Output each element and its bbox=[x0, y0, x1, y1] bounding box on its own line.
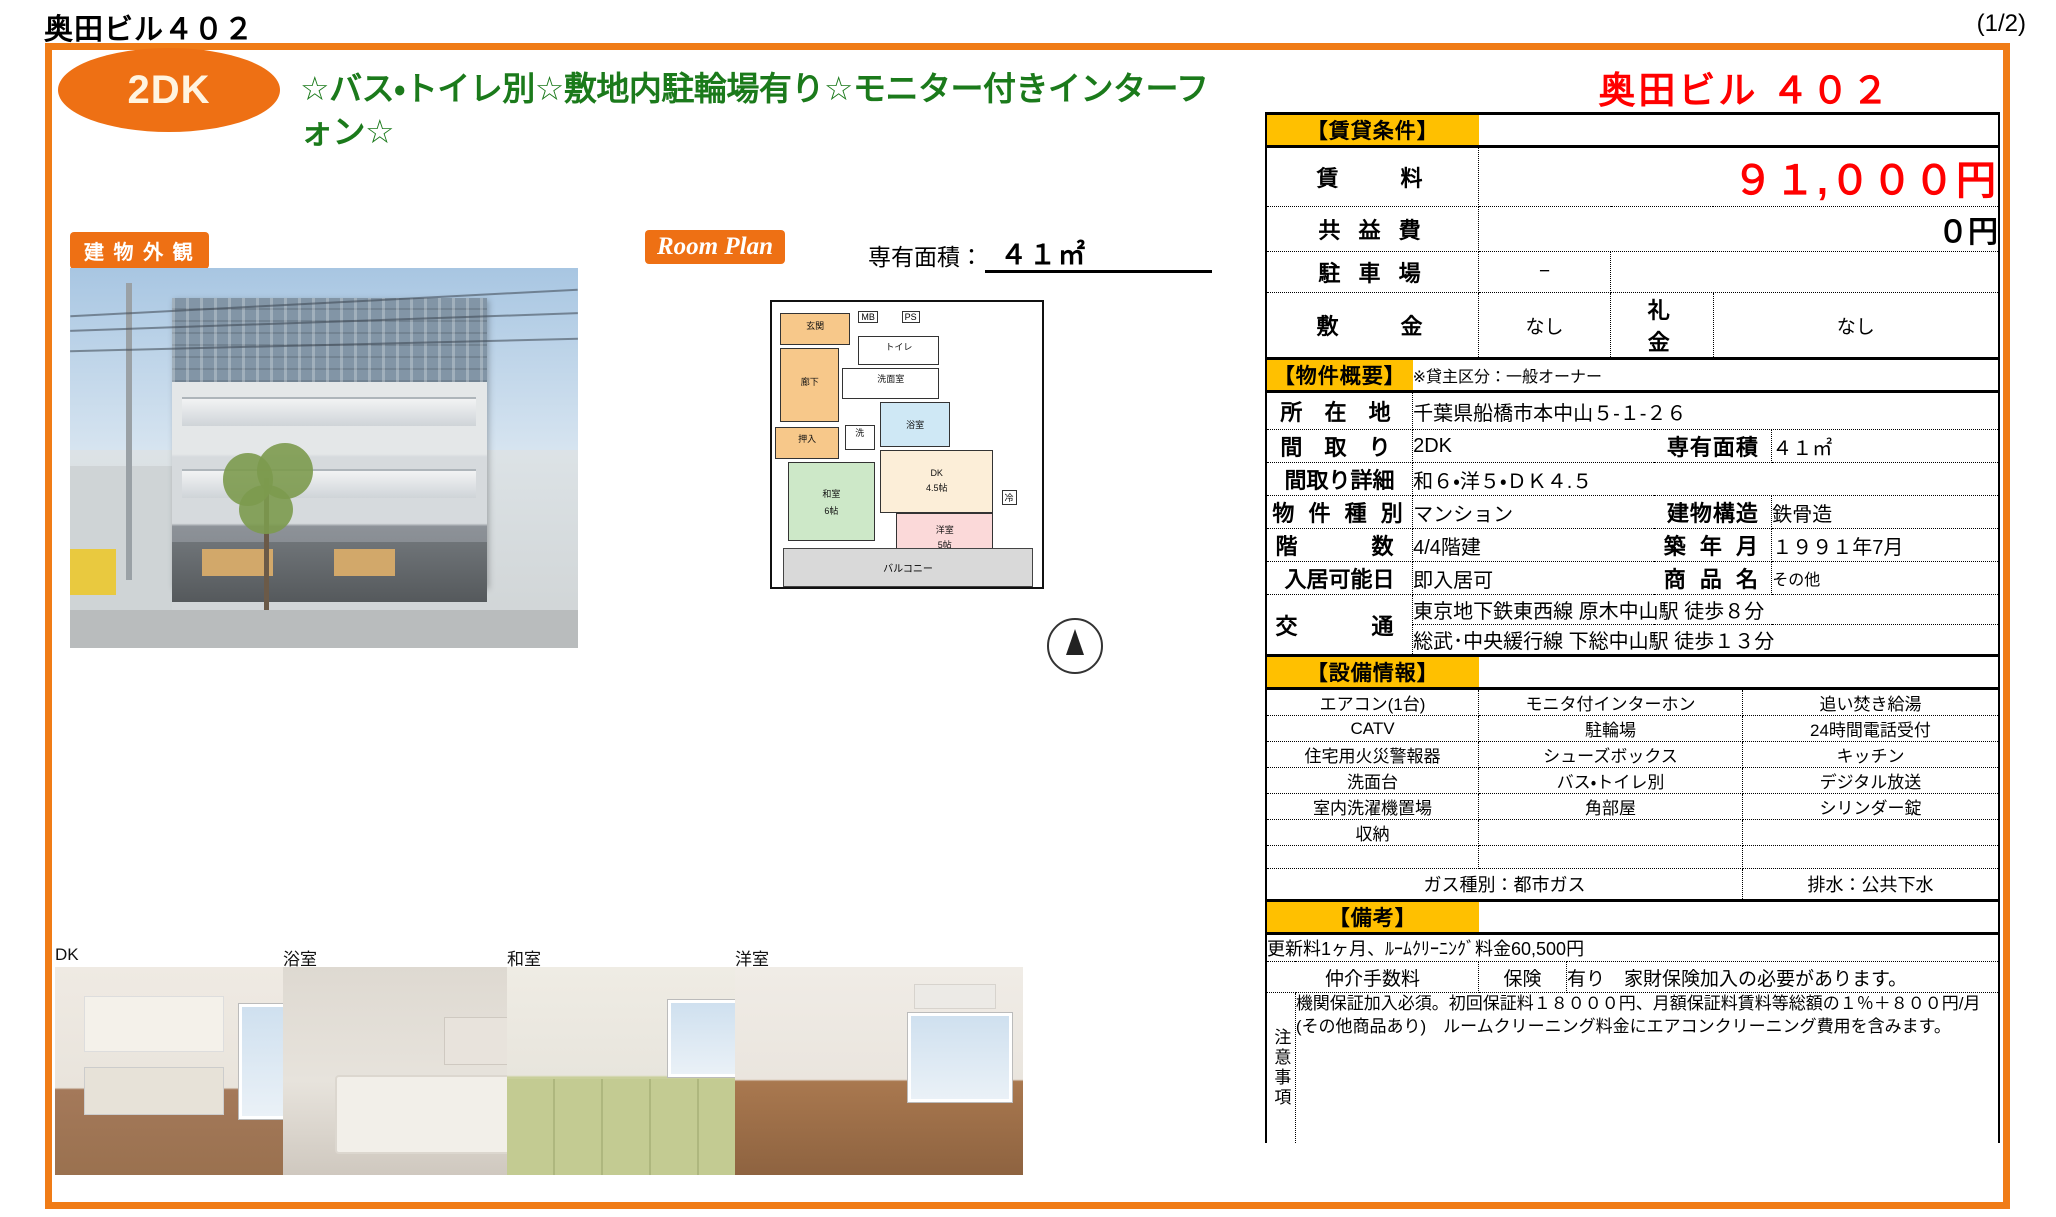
built-year-value: １９９１年7月 bbox=[1772, 529, 1999, 562]
deposit-value: なし bbox=[1479, 293, 1611, 359]
equipment-table: 【設備情報】 エアコン(1台)モニタ付インターホン追い焚き給湯 CATV駐輪場2… bbox=[1265, 657, 2000, 902]
notice-text: 機関保証加入必須。初回保証料１８０００円、月額保証料賃料等総額の１％＋８００円/… bbox=[1295, 993, 1999, 1144]
equipment-row: 住宅用火災警報器シューズボックスキッチン bbox=[1266, 742, 1999, 768]
remarks-header: 【備考】 bbox=[1266, 902, 1479, 934]
rental-conditions-table: 【賃貸条件】 賃 料 ９１,０００円 共 益 費 ０円 駐 車 場 − 敷 金 … bbox=[1265, 112, 2000, 360]
fridge-space: 冷 bbox=[1002, 490, 1017, 505]
room-toilet: トイレ bbox=[858, 336, 939, 365]
catch-copy: ☆バス・トイレ別☆敷地内駐輪場有り☆モニター付きインターフォン☆ bbox=[300, 68, 1220, 154]
equipment-item: 24時間電話受付 bbox=[1742, 716, 1999, 742]
parking-label: 駐 車 場 bbox=[1266, 252, 1479, 293]
equipment-item bbox=[1479, 820, 1743, 846]
remarks-text: 更新料1ヶ月、ﾙｰﾑｸﾘｰﾆﾝｸﾞ料金60,500円 bbox=[1266, 934, 1999, 962]
structure-label: 建物構造 bbox=[1654, 496, 1771, 529]
equipment-item: 住宅用火災警報器 bbox=[1266, 742, 1479, 768]
exterior-section-label: 建 物 外 観 bbox=[70, 232, 209, 269]
neighbor-wall bbox=[70, 466, 172, 618]
room-closet: 押入 bbox=[775, 427, 840, 458]
built-year-label: 築 年 月 bbox=[1654, 529, 1771, 562]
equipment-row: CATV駐輪場24時間電話受付 bbox=[1266, 716, 1999, 742]
equipment-item: エアコン(1台) bbox=[1266, 689, 1479, 716]
room-washroom: 洗面室 bbox=[842, 368, 939, 399]
address-label: 所 在 地 bbox=[1266, 392, 1413, 430]
notice-row: 注意事項 機関保証加入必須。初回保証料１８０００円、月額保証料賃料等総額の１％＋… bbox=[1266, 993, 1999, 1144]
brokerage-fee-label: 仲介手数料 bbox=[1266, 962, 1479, 993]
key-money-value: なし bbox=[1713, 293, 1999, 359]
equipment-header: 【設備情報】 bbox=[1266, 657, 1479, 689]
transport-row-1: 交 通 東京地下鉄東西線 原木中山駅 徒歩８分 bbox=[1266, 595, 1999, 625]
product-name-label: 商 品 名 bbox=[1654, 562, 1771, 595]
utilities-row: ガス種別：都市ガス 排水：公共下水 bbox=[1266, 869, 1999, 901]
equipment-item: CATV bbox=[1266, 716, 1479, 742]
rent-value: ９１,０００円 bbox=[1479, 147, 1999, 207]
equipment-item: 室内洗濯機置場 bbox=[1266, 794, 1479, 820]
remarks-header-spacer bbox=[1479, 902, 1999, 934]
common-fee-value: ０円 bbox=[1479, 207, 1999, 252]
transport-label: 交 通 bbox=[1266, 595, 1413, 656]
gas-type: ガス種別：都市ガス bbox=[1266, 869, 1742, 901]
layout-detail-label: 間取り詳細 bbox=[1266, 463, 1413, 496]
availability-value: 即入居可 bbox=[1413, 562, 1655, 595]
area-row-value: ４１㎡ bbox=[1772, 430, 1999, 463]
common-fee-label: 共 益 費 bbox=[1266, 207, 1479, 252]
equipment-row: 収納 bbox=[1266, 820, 1999, 846]
photo-yoshitsu bbox=[735, 967, 1023, 1175]
property-type-label: 物 件 種 別 bbox=[1266, 496, 1413, 529]
room-washitsu: 和室 6帖 bbox=[788, 462, 874, 542]
equipment-header-row: 【設備情報】 bbox=[1266, 657, 1999, 689]
parking-note bbox=[1611, 252, 2000, 293]
rental-conditions-header-row: 【賃貸条件】 bbox=[1266, 114, 1999, 147]
equipment-item: バス・トイレ別 bbox=[1479, 768, 1743, 794]
key-money-label: 礼 金 bbox=[1611, 293, 1714, 359]
equipment-row: 洗面台バス・トイレ別デジタル放送 bbox=[1266, 768, 1999, 794]
equipment-row bbox=[1266, 846, 1999, 869]
floors-row: 階 数 4/4階建 築 年 月 １９９１年7月 bbox=[1266, 529, 1999, 562]
equipment-item bbox=[1266, 846, 1479, 869]
layout-row: 間 取 り 2DK 専有面積 ４１㎡ bbox=[1266, 430, 1999, 463]
layout-type-label: 2DK bbox=[127, 68, 210, 113]
interior-photo-strip: DK 浴室 和室 洋室 bbox=[55, 945, 1235, 1175]
header-spacer bbox=[1479, 114, 1999, 147]
area-underline bbox=[985, 270, 1212, 273]
floor-plan-diagram: 玄関 MB PS トイレ 洗面室 廊下 浴室 押入 洗 DK 4.5帖 和室 6… bbox=[770, 300, 1044, 589]
shop-shutter-right bbox=[334, 549, 395, 576]
common-fee-row: 共 益 費 ０円 bbox=[1266, 207, 1999, 252]
deposit-row: 敷 金 なし 礼 金 なし bbox=[1266, 293, 1999, 359]
washer-space: 洗 bbox=[845, 425, 875, 451]
page-title: 奥田ビル４０２ bbox=[44, 6, 254, 48]
tree-foliage bbox=[239, 485, 293, 534]
property-name-title: 奥田ビル ４０２ bbox=[1480, 60, 2010, 114]
equipment-item bbox=[1479, 846, 1743, 869]
equipment-item: 駐輪場 bbox=[1479, 716, 1743, 742]
street-tree bbox=[212, 443, 324, 618]
equipment-item: シューズボックス bbox=[1479, 742, 1743, 768]
equipment-grid: エアコン(1台)モニタ付インターホン追い焚き給湯 CATV駐輪場24時間電話受付… bbox=[1266, 689, 1999, 869]
property-overview-table: 【物件概要】 ※貸主区分：一般オーナー 所 在 地 千葉県船橋市本中山５-１-２… bbox=[1265, 360, 2000, 657]
layout-label: 間 取 り bbox=[1266, 430, 1413, 463]
equipment-item: 追い焚き給湯 bbox=[1742, 689, 1999, 716]
room-hallway: 廊下 bbox=[780, 348, 839, 422]
page-number: (1/2) bbox=[1977, 10, 2026, 38]
parking-value: − bbox=[1479, 252, 1611, 293]
photo-caption-dk: DK bbox=[55, 945, 79, 965]
remarks-table: 【備考】 更新料1ヶ月、ﾙｰﾑｸﾘｰﾆﾝｸﾞ料金60,500円 仲介手数料 保険… bbox=[1265, 902, 2000, 1143]
address-value: 千葉県船橋市本中山５-１-２６ bbox=[1413, 392, 1999, 430]
equipment-item bbox=[1742, 846, 1999, 869]
floors-label: 階 数 bbox=[1266, 529, 1413, 562]
insurance-label: 保険 bbox=[1479, 962, 1567, 993]
remarks-header-row: 【備考】 bbox=[1266, 902, 1999, 934]
notice-label: 注意事項 bbox=[1266, 993, 1295, 1144]
area-value: ４１㎡ bbox=[1000, 233, 1087, 272]
layout-detail-row: 間取り詳細 和６・洋５・ＤＫ４.５ bbox=[1266, 463, 1999, 496]
transport-line-2: 総武･中央緩行線 下総中山駅 徒歩１３分 bbox=[1413, 625, 1999, 656]
equipment-item bbox=[1742, 820, 1999, 846]
fee-insurance-row: 仲介手数料 保険 有り 家財保険加入の必要があります。 bbox=[1266, 962, 1999, 993]
equipment-item: 洗面台 bbox=[1266, 768, 1479, 794]
room-mb: MB bbox=[858, 311, 878, 323]
availability-label: 入居可能日 bbox=[1266, 562, 1413, 595]
remarks-text-row: 更新料1ヶ月、ﾙｰﾑｸﾘｰﾆﾝｸﾞ料金60,500円 bbox=[1266, 934, 1999, 962]
equipment-item: シリンダー錠 bbox=[1742, 794, 1999, 820]
insurance-value: 有り 家財保険加入の必要があります。 bbox=[1567, 962, 1999, 993]
drainage-type: 排水：公共下水 bbox=[1742, 869, 1999, 901]
property-type-value: マンション bbox=[1413, 496, 1655, 529]
roomplan-section-label: Room Plan bbox=[645, 230, 785, 264]
layout-value: 2DK bbox=[1413, 430, 1655, 463]
overview-header-row: 【物件概要】 ※貸主区分：一般オーナー bbox=[1266, 360, 1999, 392]
floors-value: 4/4階建 bbox=[1413, 529, 1655, 562]
compass-north-icon bbox=[1047, 618, 1103, 674]
transport-line-1: 東京地下鉄東西線 原木中山駅 徒歩８分 bbox=[1413, 595, 1999, 625]
owner-note: ※貸主区分：一般オーナー bbox=[1413, 360, 1999, 392]
property-flyer-page: 奥田ビル４０２ (1/2) 2DK ☆バス・トイレ別☆敷地内駐輪場有り☆モニター… bbox=[0, 0, 2056, 1217]
rent-label: 賃 料 bbox=[1266, 147, 1479, 207]
equipment-row: 室内洗濯機置場角部屋シリンダー錠 bbox=[1266, 794, 1999, 820]
room-dk: DK 4.5帖 bbox=[880, 450, 993, 513]
equipment-header-spacer bbox=[1479, 657, 1999, 689]
street-surface bbox=[70, 610, 578, 648]
availability-row: 入居可能日 即入居可 商 品 名 その他 bbox=[1266, 562, 1999, 595]
property-info-panel: 【賃貸条件】 賃 料 ９１,０００円 共 益 費 ０円 駐 車 場 − 敷 金 … bbox=[1265, 112, 2000, 1143]
rental-conditions-header: 【賃貸条件】 bbox=[1266, 114, 1479, 147]
deposit-label: 敷 金 bbox=[1266, 293, 1479, 359]
room-genkan: 玄関 bbox=[780, 313, 850, 344]
equipment-item: 収納 bbox=[1266, 820, 1479, 846]
equipment-item: デジタル放送 bbox=[1742, 768, 1999, 794]
area-row-label: 専有面積 bbox=[1654, 430, 1771, 463]
equipment-item: 角部屋 bbox=[1479, 794, 1743, 820]
balcony: バルコニー bbox=[783, 548, 1033, 587]
equipment-item: キッチン bbox=[1742, 742, 1999, 768]
exterior-photo bbox=[70, 268, 578, 648]
parking-row: 駐 車 場 − bbox=[1266, 252, 1999, 293]
layout-detail-value: 和６・洋５・ＤＫ４.５ bbox=[1413, 463, 1999, 496]
room-ps: PS bbox=[902, 311, 920, 323]
layout-type-badge: 2DK bbox=[58, 48, 280, 132]
equipment-row: エアコン(1台)モニタ付インターホン追い焚き給湯 bbox=[1266, 689, 1999, 716]
structure-value: 鉄骨造 bbox=[1772, 496, 1999, 529]
equipment-item: モニタ付インターホン bbox=[1479, 689, 1743, 716]
area-label: 専有面積： bbox=[868, 238, 983, 272]
address-row: 所 在 地 千葉県船橋市本中山５-１-２６ bbox=[1266, 392, 1999, 430]
product-name-value: その他 bbox=[1772, 562, 1999, 595]
yellow-sign bbox=[70, 549, 116, 595]
room-bathroom: 浴室 bbox=[880, 402, 950, 448]
balcony-level-2 bbox=[182, 397, 477, 426]
property-type-row: 物 件 種 別 マンション 建物構造 鉄骨造 bbox=[1266, 496, 1999, 529]
rent-row: 賃 料 ９１,０００円 bbox=[1266, 147, 1999, 207]
overview-header: 【物件概要】 bbox=[1266, 360, 1413, 392]
